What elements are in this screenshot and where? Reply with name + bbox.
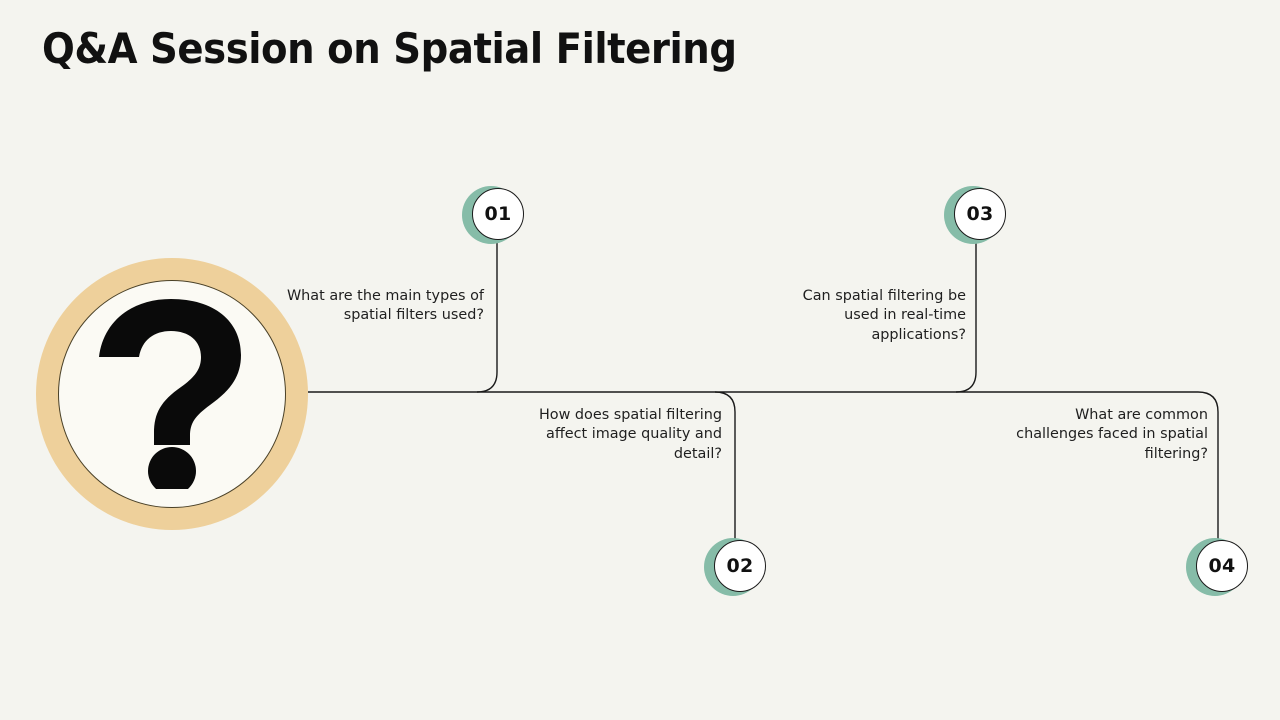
step-marker-03[interactable]: 03 <box>944 186 1006 248</box>
step-number-04: 04 <box>1208 557 1235 576</box>
step-question-04: What are common challenges faced in spat… <box>1008 406 1208 464</box>
page-title: Q&A Session on Spatial Filtering <box>42 26 737 72</box>
step-question-02: How does spatial filtering affect image … <box>522 406 722 464</box>
question-mark-badge <box>36 258 308 530</box>
slide-canvas: Q&A Session on Spatial Filtering 01 What <box>0 0 1280 720</box>
step-number-02: 02 <box>726 557 753 576</box>
step-number-03: 03 <box>966 205 993 224</box>
step-marker-01[interactable]: 01 <box>462 186 524 248</box>
step-circle-02: 02 <box>714 540 766 592</box>
step-circle-04: 04 <box>1196 540 1248 592</box>
step-question-03: Can spatial filtering be used in real-ti… <box>766 287 966 345</box>
step-circle-01: 01 <box>472 188 524 240</box>
step-question-01: What are the main types of spatial filte… <box>284 287 484 326</box>
question-mark-icon <box>36 258 308 530</box>
step-marker-02[interactable]: 02 <box>704 538 766 600</box>
step-marker-04[interactable]: 04 <box>1186 538 1248 600</box>
step-number-01: 01 <box>484 205 511 224</box>
step-circle-03: 03 <box>954 188 1006 240</box>
